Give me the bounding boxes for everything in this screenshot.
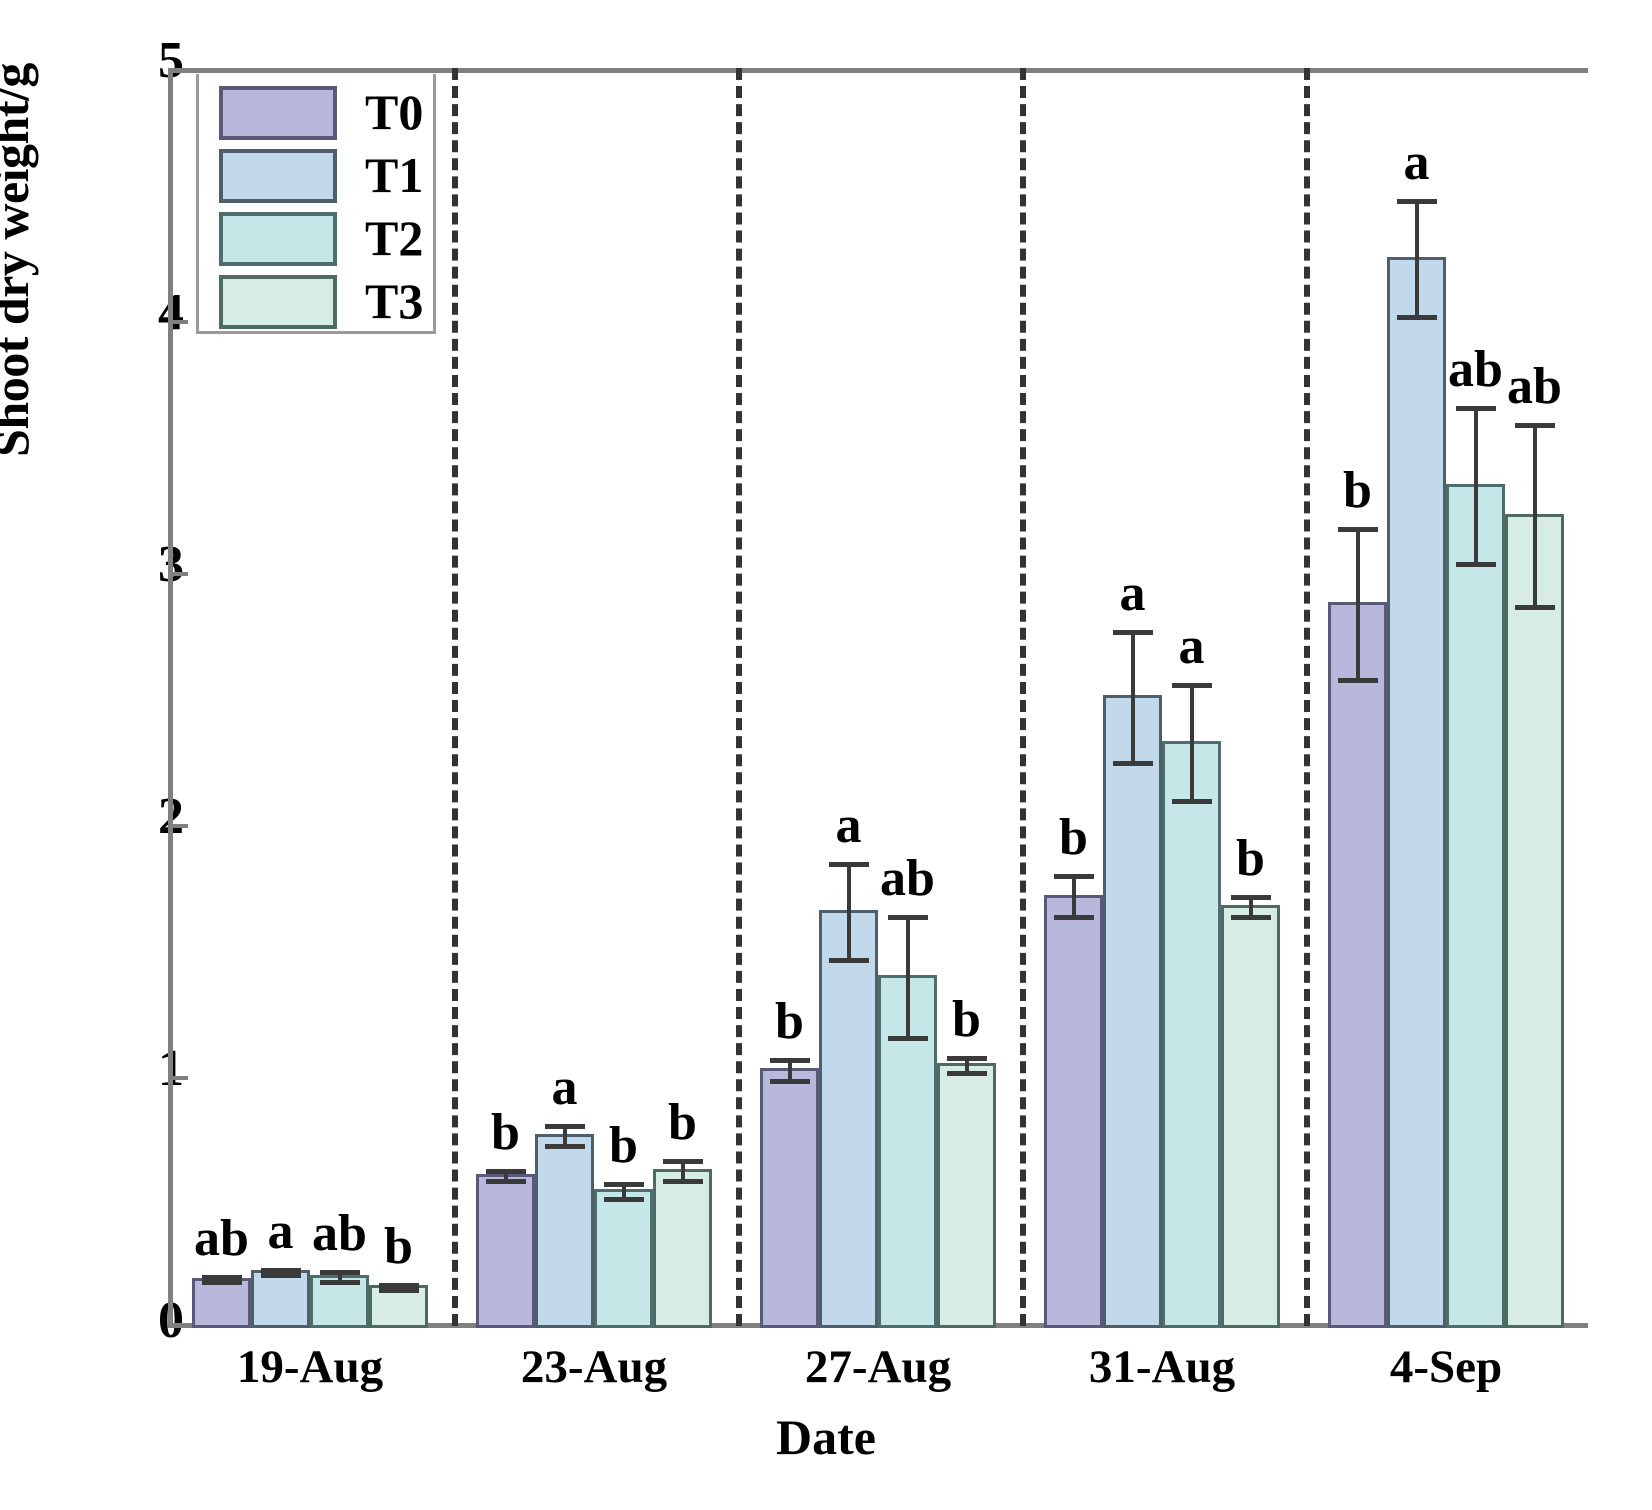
- error-cap-lower: [1172, 799, 1212, 804]
- y-axis-title: Shoot dry weight/g: [0, 0, 40, 540]
- bar-t2-4-sep[interactable]: [1446, 484, 1505, 1328]
- error-cap-upper: [888, 915, 928, 920]
- x-tick-label: 31-Aug: [1012, 1340, 1312, 1394]
- bar-t0-4-sep[interactable]: [1328, 602, 1387, 1328]
- error-cap-upper: [947, 1056, 987, 1061]
- legend-item-t0[interactable]: T0: [219, 86, 439, 142]
- bar-t0-31-aug[interactable]: [1044, 895, 1103, 1328]
- bar-t1-31-aug[interactable]: [1103, 695, 1162, 1328]
- error-cap-lower: [486, 1179, 526, 1184]
- error-bar: [1072, 874, 1076, 914]
- significance-letter: ab: [1475, 361, 1595, 413]
- significance-letter: b: [907, 994, 1027, 1046]
- error-cap-lower: [1397, 315, 1437, 320]
- error-cap-upper: [1054, 874, 1094, 879]
- bar-t1-4-sep[interactable]: [1387, 257, 1446, 1328]
- error-bar: [1533, 423, 1537, 604]
- error-cap-lower: [1338, 678, 1378, 683]
- significance-letter: b: [1191, 833, 1311, 885]
- error-cap-upper: [604, 1182, 644, 1187]
- error-cap-lower: [604, 1197, 644, 1202]
- legend-label: T1: [365, 147, 423, 203]
- error-cap-upper: [1515, 423, 1555, 428]
- error-cap-lower: [202, 1280, 242, 1285]
- legend-item-t2[interactable]: T2: [219, 212, 439, 268]
- significance-letter: ab: [848, 853, 968, 905]
- legend-label: T0: [365, 84, 423, 140]
- group-separator: [1304, 68, 1310, 1326]
- legend-swatch-t1: [219, 149, 337, 203]
- significance-letter: a: [1073, 568, 1193, 620]
- error-bar: [1415, 199, 1419, 315]
- y-tick-label: 3: [64, 539, 184, 591]
- error-cap-upper: [1231, 895, 1271, 900]
- legend: T0T1T2T3: [196, 74, 436, 334]
- legend-swatch-t3: [219, 275, 337, 329]
- x-tick-label: 27-Aug: [728, 1340, 1028, 1394]
- error-bar: [1190, 683, 1194, 799]
- bar-t0-19-aug[interactable]: [192, 1278, 251, 1328]
- error-cap-lower: [320, 1280, 360, 1285]
- bar-t3-23-aug[interactable]: [653, 1169, 712, 1328]
- error-bar: [1356, 527, 1360, 678]
- group-separator: [1020, 68, 1026, 1326]
- legend-swatch-t2: [219, 212, 337, 266]
- significance-letter: a: [1357, 137, 1477, 189]
- legend-item-t1[interactable]: T1: [219, 149, 439, 205]
- error-cap-upper: [1338, 527, 1378, 532]
- error-cap-lower: [1054, 915, 1094, 920]
- error-cap-upper: [1172, 683, 1212, 688]
- significance-letter: b: [623, 1097, 743, 1149]
- x-axis-title: Date: [0, 1408, 1652, 1466]
- bar-t3-27-aug[interactable]: [937, 1063, 996, 1328]
- y-tick-label: 1: [64, 1043, 184, 1095]
- error-cap-upper: [486, 1169, 526, 1174]
- significance-letter: a: [1132, 621, 1252, 673]
- x-tick-label: 23-Aug: [444, 1340, 744, 1394]
- error-cap-lower: [947, 1071, 987, 1076]
- bar-t3-4-sep[interactable]: [1505, 514, 1564, 1328]
- error-cap-lower: [1113, 761, 1153, 766]
- legend-label: T2: [365, 210, 423, 266]
- error-cap-upper: [1397, 199, 1437, 204]
- error-cap-lower: [829, 958, 869, 963]
- error-bar: [1474, 406, 1478, 562]
- error-cap-lower: [663, 1179, 703, 1184]
- legend-item-t3[interactable]: T3: [219, 275, 439, 331]
- bar-t1-19-aug[interactable]: [251, 1270, 310, 1328]
- bar-t3-31-aug[interactable]: [1221, 905, 1280, 1328]
- y-tick-label: 5: [64, 35, 184, 87]
- bar-t2-23-aug[interactable]: [594, 1189, 653, 1328]
- error-cap-lower: [261, 1273, 301, 1278]
- bar-chart-figure: Shoot dry weight/g Date 012345 abaabbbab…: [0, 0, 1652, 1510]
- y-tick-label: 4: [64, 287, 184, 339]
- error-cap-lower: [1515, 605, 1555, 610]
- legend-label: T3: [365, 273, 423, 329]
- x-tick-label: 4-Sep: [1296, 1340, 1596, 1394]
- bar-t0-23-aug[interactable]: [476, 1174, 535, 1328]
- error-cap-lower: [770, 1079, 810, 1084]
- error-cap-upper: [663, 1159, 703, 1164]
- error-cap-lower: [1456, 562, 1496, 567]
- legend-swatch-t0: [219, 86, 337, 140]
- bar-t1-27-aug[interactable]: [819, 910, 878, 1328]
- y-tick-label: 2: [64, 791, 184, 843]
- significance-letter: a: [505, 1062, 625, 1114]
- bar-t2-31-aug[interactable]: [1162, 741, 1221, 1328]
- error-cap-lower: [379, 1288, 419, 1293]
- error-cap-upper: [770, 1058, 810, 1063]
- bar-t0-27-aug[interactable]: [760, 1068, 819, 1328]
- error-cap-lower: [1231, 915, 1271, 920]
- significance-letter: b: [339, 1221, 459, 1273]
- x-tick-label: 19-Aug: [160, 1340, 460, 1394]
- significance-letter: a: [789, 800, 909, 852]
